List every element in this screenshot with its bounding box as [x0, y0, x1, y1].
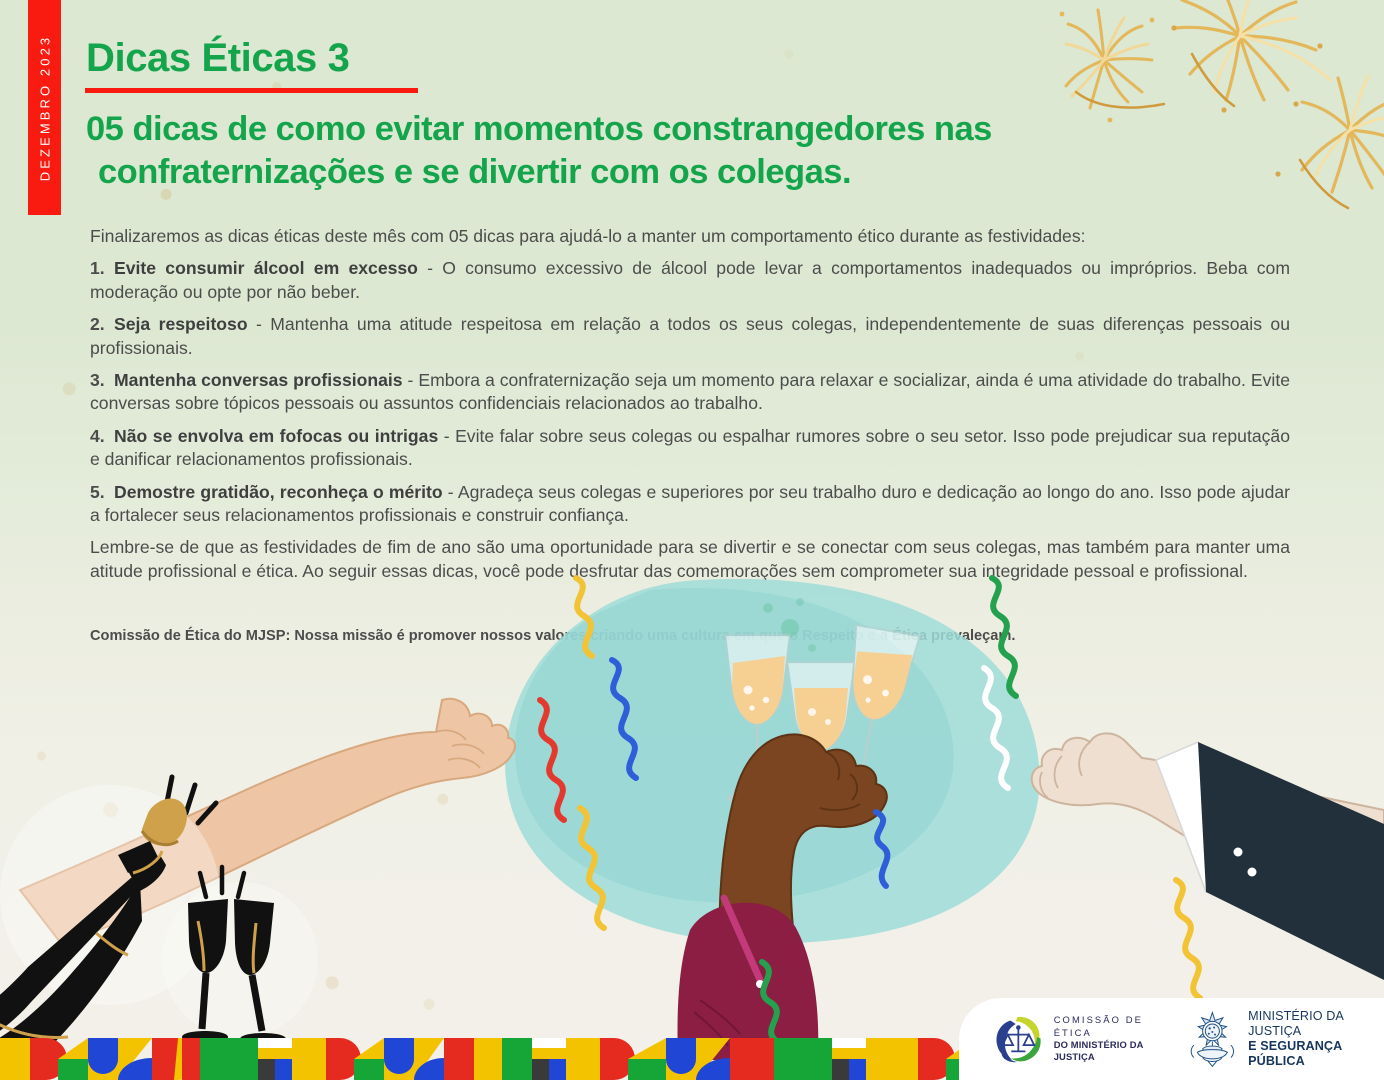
tip-item: 1.Evite consumir álcool em excesso - O c…	[90, 257, 1290, 304]
ethics-commission-logo: COMISSÃO DE ÉTICA DO MINISTÉRIO DA JUSTI…	[991, 1010, 1171, 1068]
tip-item: 5.Demostre gratidão, reconheça o mérito …	[90, 481, 1290, 528]
tip-item: 3.Mantenha conversas profissionais - Emb…	[90, 369, 1290, 416]
hand-right	[1032, 733, 1384, 980]
tip-item: 4.Não se envolva em fofocas ou intrigas …	[90, 425, 1290, 472]
poster-canvas: DEZEMBRO 2023 Dicas Éticas 3 05 dicas de…	[0, 0, 1384, 1080]
tip-title: Seja respeitoso	[114, 314, 248, 334]
ethics-logo-text: COMISSÃO DE ÉTICA DO MINISTÉRIO DA JUSTI…	[1054, 1014, 1172, 1064]
footer-logos: COMISSÃO DE ÉTICA DO MINISTÉRIO DA JUSTI…	[959, 998, 1384, 1080]
tip-title: Evite consumir álcool em excesso	[114, 258, 418, 278]
champagne-bottle-illustration	[0, 745, 320, 1055]
title-underline	[85, 88, 418, 93]
tip-number: 4.	[90, 425, 114, 448]
date-badge: DEZEMBRO 2023	[28, 0, 61, 215]
tip-title: Demostre gratidão, reconheça o mérito	[114, 482, 443, 502]
tip-title: Mantenha conversas profissionais	[114, 370, 403, 390]
scales-of-justice-icon	[991, 1010, 1046, 1068]
ministry-logo-line-1: MINISTÉRIO DA JUSTIÇA	[1248, 1009, 1384, 1039]
page-title: Dicas Éticas 3	[86, 36, 349, 81]
tip-number: 1.	[90, 257, 114, 280]
page-subtitle: 05 dicas de como evitar momentos constra…	[86, 108, 1226, 194]
tip-number: 2.	[90, 313, 114, 336]
subtitle-line-1: 05 dicas de como evitar momentos constra…	[86, 110, 992, 148]
pattern-tile	[444, 1038, 666, 1080]
pattern-tile	[0, 1038, 222, 1080]
pattern-tile	[222, 1038, 444, 1080]
brazil-coat-of-arms-icon	[1185, 1006, 1240, 1072]
tip-title: Não se envolva em fofocas ou intrigas	[114, 426, 438, 446]
ministry-logo: MINISTÉRIO DA JUSTIÇA E SEGURANÇA PÚBLIC…	[1185, 1006, 1384, 1072]
date-badge-label: DEZEMBRO 2023	[37, 34, 52, 181]
tip-item: 2.Seja respeitoso - Mantenha uma atitude…	[90, 313, 1290, 360]
tip-text: - Mantenha uma atitude respeitosa em rel…	[90, 314, 1290, 357]
ministry-logo-text: MINISTÉRIO DA JUSTIÇA E SEGURANÇA PÚBLIC…	[1248, 1009, 1384, 1069]
subtitle-line-2: confraternizações e se divertir com os c…	[86, 151, 1226, 194]
tip-number: 3.	[90, 369, 114, 392]
ethics-logo-line-2: DO MINISTÉRIO DA JUSTIÇA	[1054, 1039, 1172, 1064]
lead-paragraph: Finalizaremos as dicas éticas deste mês …	[90, 225, 1290, 248]
ministry-logo-line-2: E SEGURANÇA PÚBLICA	[1248, 1039, 1384, 1069]
ethics-logo-line-1: COMISSÃO DE ÉTICA	[1054, 1014, 1172, 1039]
tip-number: 5.	[90, 481, 114, 504]
pattern-tile	[666, 1038, 888, 1080]
body-copy: Finalizaremos as dicas éticas deste mês …	[90, 225, 1290, 592]
